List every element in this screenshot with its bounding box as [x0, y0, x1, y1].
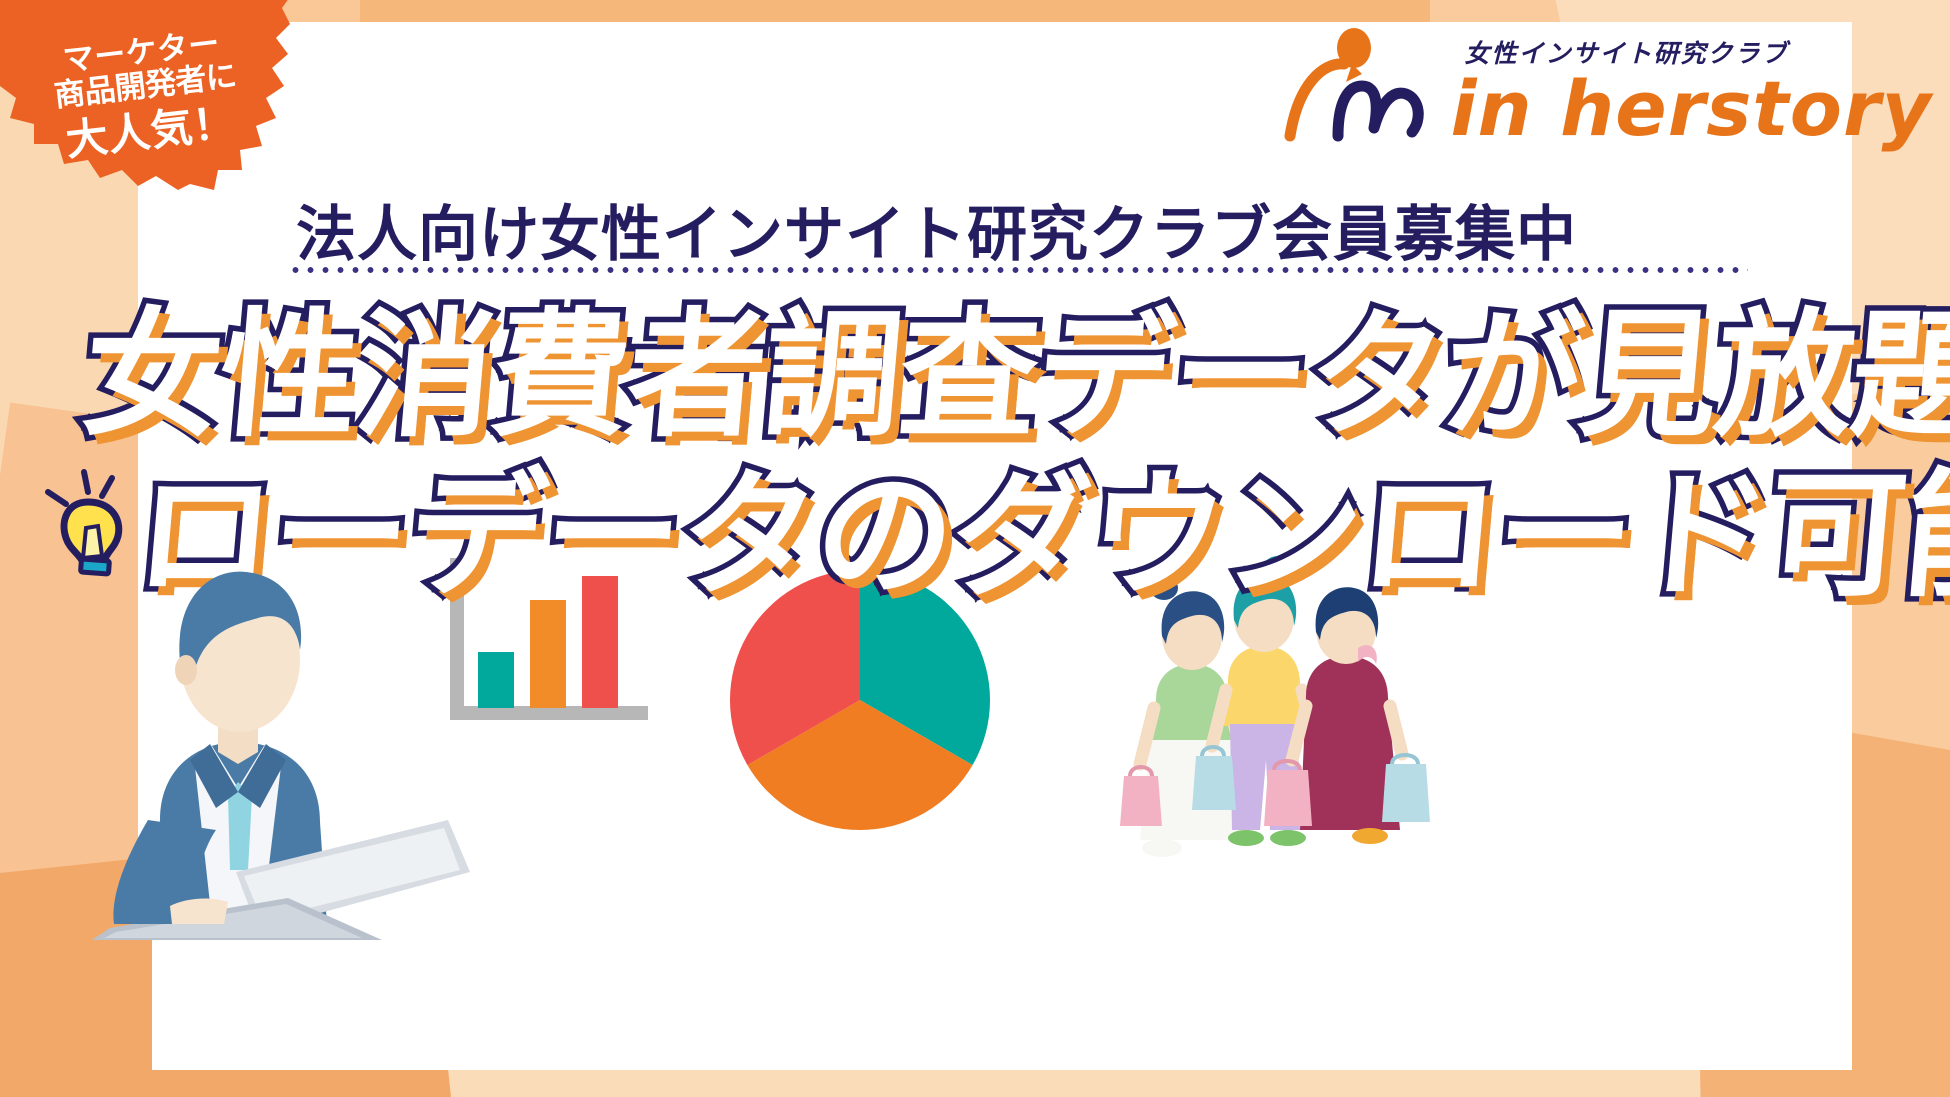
logo-wordmark: in herstory	[1450, 72, 1932, 146]
in-script-mark-icon	[1282, 24, 1432, 144]
banner-root: マーケター 商品開発者に 大人気！ 女性インサイト研究クラブ in hersto…	[0, 0, 1950, 1097]
headline-line-1: 女性消費者調査データが見放題！	[77, 296, 1891, 456]
businessman-with-laptop-illustration	[52, 520, 472, 940]
badge-text: マーケター 商品開発者に 大人気！	[0, 0, 302, 206]
popularity-badge: マーケター 商品開発者に 大人気！	[0, 0, 292, 190]
dotted-divider	[288, 266, 1748, 274]
bar-1	[478, 652, 514, 708]
brand-logo: 女性インサイト研究クラブ in herstory	[1232, 14, 1932, 146]
lightbulb-icon	[26, 452, 156, 582]
bar-2	[530, 600, 566, 708]
page-subtitle: 法人向け女性インサイト研究クラブ会員募集中	[296, 186, 1736, 273]
logo-text-block: 女性インサイト研究クラブ in herstory	[1450, 34, 1932, 146]
